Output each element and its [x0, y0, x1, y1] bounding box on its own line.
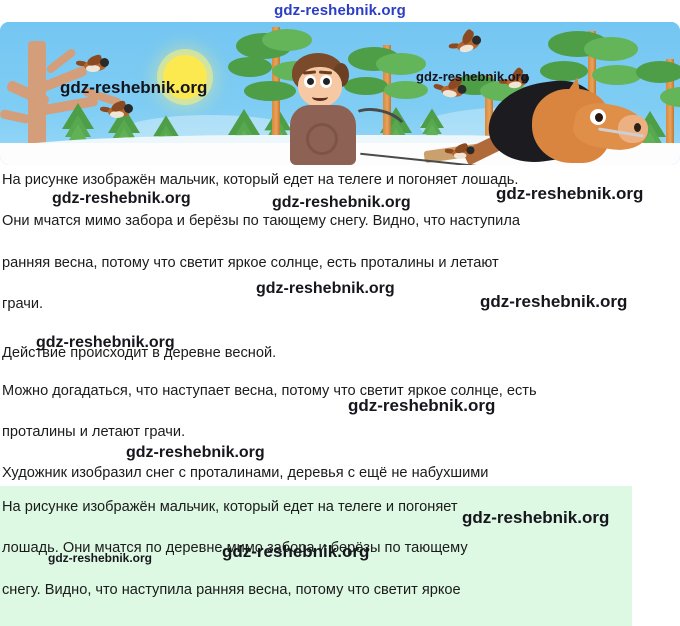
watermark-answer-1: gdz-reshebnik.org: [462, 508, 609, 528]
boy-character: [288, 53, 360, 165]
horse-nostril: [634, 123, 641, 132]
illustration-spring-village: gdz-reshebnik.org gdz-reshebnik.org: [0, 22, 680, 165]
horse-eye: [590, 109, 606, 125]
horse-character: [478, 75, 658, 165]
watermark-image-right: gdz-reshebnik.org: [416, 69, 529, 84]
boy-eye-left: [304, 75, 316, 88]
answer-line-3: снегу. Видно, что наступила ранняя весна…: [2, 583, 628, 598]
watermark-image-left: gdz-reshebnik.org: [60, 78, 207, 98]
boy-eye-right: [320, 75, 332, 88]
page-root: gdz-reshebnik.org: [0, 0, 680, 626]
watermark-body-7: gdz-reshebnik.org: [348, 396, 495, 416]
watermark-body-2: gdz-reshebnik.org: [272, 194, 411, 212]
watermark-answer-3: gdz-reshebnik.org: [48, 551, 152, 565]
horse-muzzle: [618, 115, 648, 143]
watermark-body-6: gdz-reshebnik.org: [36, 334, 175, 352]
watermark-answer-2: gdz-reshebnik.org: [222, 542, 369, 562]
body-line-2: Они мчатся мимо забора и берёзы по тающе…: [2, 214, 678, 229]
body-line-8: Художник изобразил снег с проталинами, д…: [2, 466, 678, 481]
watermark-body-1: gdz-reshebnik.org: [52, 190, 191, 208]
watermark-body-5: gdz-reshebnik.org: [480, 292, 627, 312]
watermark-body-3: gdz-reshebnik.org: [496, 184, 643, 204]
boy-mouth: [312, 93, 328, 101]
top-watermark: gdz-reshebnik.org: [0, 2, 680, 19]
body-line-7: проталины и летают грачи.: [2, 425, 678, 440]
body-line-3: ранняя весна, потому что светит яркое со…: [2, 256, 678, 271]
body-line-6: Можно догадаться, что наступает весна, п…: [2, 384, 678, 399]
watermark-body-4: gdz-reshebnik.org: [256, 280, 395, 298]
watermark-body-8: gdz-reshebnik.org: [126, 444, 265, 462]
